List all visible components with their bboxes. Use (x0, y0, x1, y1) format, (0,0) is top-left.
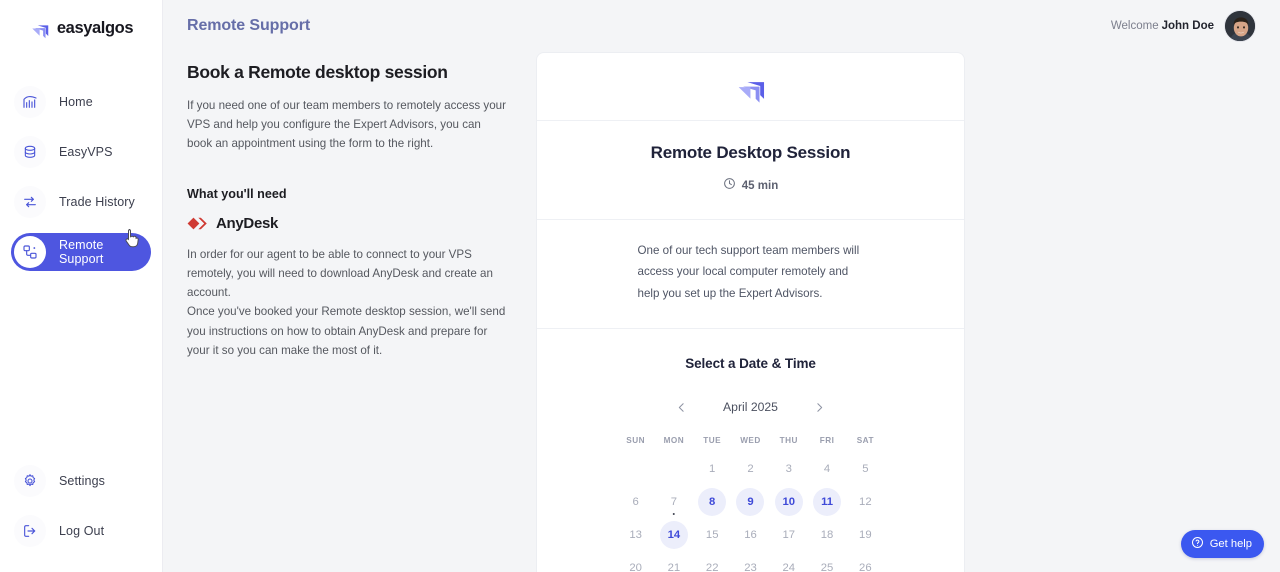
calendar-cell: 6 (617, 485, 655, 518)
today-indicator-dot (673, 513, 676, 516)
calendar-day-available[interactable]: 11 (813, 488, 841, 516)
calendar-cell: 24 (770, 551, 808, 572)
sidebar-nav: Home EasyVPS (0, 83, 162, 271)
chevron-left-icon[interactable] (667, 396, 697, 418)
card-logo-row (537, 53, 964, 121)
calendar-day-disabled: 19 (851, 521, 879, 549)
sidebar-item-trade-history[interactable]: Trade History (11, 183, 151, 221)
datetime-picker: Select a Date & Time April 2025 (537, 329, 964, 572)
calendar-day-disabled: 25 (813, 554, 841, 572)
sidebar-item-label: Home (59, 95, 93, 109)
user-name: John Doe (1162, 20, 1214, 32)
calendar-cell[interactable]: 10 (770, 485, 808, 518)
sidebar-item-label: Log Out (59, 524, 104, 538)
brand-logo[interactable]: easyalgos (0, 0, 162, 39)
card-header: Remote Desktop Session 45 min (537, 121, 964, 220)
calendar-day-header: SAT (846, 418, 884, 452)
sidebar-bottom-nav: Settings Log Out (0, 462, 162, 572)
calendar-cell: 22 (693, 551, 731, 572)
calendar-nav: April 2025 (617, 396, 885, 418)
anydesk-logo-icon (187, 217, 211, 230)
calendar-day-disabled: 22 (698, 554, 726, 572)
calendar-day-header: FRI (808, 418, 846, 452)
calendar-cell: 21 (655, 551, 693, 572)
calendar-day-disabled: 2 (736, 455, 764, 483)
calendar-cell: 19 (846, 518, 884, 551)
calendar: April 2025 SUNMONTUEWEDTHUFRISAT12345678… (617, 396, 885, 572)
intro-text: If you need one of our team members to r… (187, 96, 509, 154)
requirements-heading: What you'll need (187, 187, 509, 201)
calendar-month-label: April 2025 (697, 400, 805, 414)
calendar-day-disabled: 4 (813, 455, 841, 483)
calendar-cell: 15 (693, 518, 731, 551)
anydesk-logo: AnyDesk (187, 215, 509, 232)
calendar-day-header: TUE (693, 418, 731, 452)
sidebar-item-easyvps[interactable]: EasyVPS (11, 133, 151, 171)
calendar-cell[interactable]: 9 (731, 485, 769, 518)
clock-icon (723, 177, 736, 195)
welcome-text: WelcomeJohn Doe (1111, 20, 1214, 32)
calendar-day-disabled: 17 (775, 521, 803, 549)
calendar-cell: 17 (770, 518, 808, 551)
page-title: Remote Support (187, 17, 310, 35)
question-circle-icon (1191, 536, 1204, 552)
calendar-cell: 16 (731, 518, 769, 551)
session-duration: 45 min (537, 177, 964, 195)
user-area[interactable]: WelcomeJohn Doe (1111, 10, 1256, 42)
calendar-cell: 3 (770, 452, 808, 485)
calendar-day-disabled: 23 (736, 554, 764, 572)
calendar-grid: SUNMONTUEWEDTHUFRISAT1234567891011121314… (617, 418, 885, 572)
calendar-day-disabled: 13 (622, 521, 650, 549)
content: Book a Remote desktop session If you nee… (163, 52, 1280, 572)
easyalgos-arrow-logo-icon (29, 17, 51, 39)
calendar-day-available[interactable]: 8 (698, 488, 726, 516)
info-column: Book a Remote desktop session If you nee… (187, 52, 509, 572)
calendar-cell: 7 (655, 485, 693, 518)
calendar-day-header: SUN (617, 418, 655, 452)
calendar-day-disabled: 12 (851, 488, 879, 516)
session-description: One of our tech support team members wil… (638, 240, 864, 304)
requirements-text-1: In order for our agent to be able to con… (187, 245, 509, 303)
calendar-empty-cell (655, 452, 693, 485)
section-heading: Book a Remote desktop session (187, 62, 509, 83)
app-root: easyalgos Home (0, 0, 1280, 572)
sidebar: easyalgos Home (0, 0, 163, 572)
sidebar-item-label: Settings (59, 474, 105, 488)
sidebar-item-label: Trade History (59, 195, 135, 209)
get-help-label: Get help (1210, 538, 1252, 550)
gear-icon (14, 465, 46, 497)
calendar-cell: 18 (808, 518, 846, 551)
calendar-day-disabled: 16 (736, 521, 764, 549)
calendar-cell[interactable]: 8 (693, 485, 731, 518)
calendar-cell[interactable]: 14 (655, 518, 693, 551)
calendar-cell: 5 (846, 452, 884, 485)
anydesk-name: AnyDesk (216, 215, 278, 232)
sidebar-item-label: Remote Support (59, 238, 151, 266)
booking-card-wrapper: Remote Desktop Session 45 min One of our… (536, 52, 965, 572)
calendar-day-disabled: 5 (851, 455, 879, 483)
logout-icon (14, 515, 46, 547)
calendar-day-available[interactable]: 14 (660, 521, 688, 549)
calendar-day-available[interactable]: 9 (736, 488, 764, 516)
server-stack-icon (14, 136, 46, 168)
calendar-cell: 1 (693, 452, 731, 485)
avatar[interactable] (1224, 10, 1256, 42)
chart-bars-icon (14, 86, 46, 118)
calendar-cell: 2 (731, 452, 769, 485)
calendar-cell: 12 (846, 485, 884, 518)
main-area: Remote Support WelcomeJohn Doe (163, 0, 1280, 572)
calendar-cell: 13 (617, 518, 655, 551)
calendar-cell: 26 (846, 551, 884, 572)
calendar-day-disabled: 20 (622, 554, 650, 572)
get-help-button[interactable]: Get help (1181, 530, 1264, 558)
calendar-day-disabled: 3 (775, 455, 803, 483)
calendar-day-header: THU (770, 418, 808, 452)
calendar-day-available[interactable]: 10 (775, 488, 803, 516)
exchange-arrows-icon (14, 186, 46, 218)
sidebar-item-settings[interactable]: Settings (11, 462, 151, 500)
calendar-day-disabled: 21 (660, 554, 688, 572)
calendar-day-disabled: 6 (622, 488, 650, 516)
welcome-label: Welcome (1111, 20, 1159, 32)
calendar-day-disabled: 24 (775, 554, 803, 572)
calendar-cell: 4 (808, 452, 846, 485)
calendar-day-disabled: 18 (813, 521, 841, 549)
calendar-day-disabled: 7 (660, 488, 688, 516)
calendar-cell: 23 (731, 551, 769, 572)
calendar-cell: 20 (617, 551, 655, 572)
sidebar-item-label: EasyVPS (59, 145, 113, 159)
session-title: Remote Desktop Session (537, 143, 964, 163)
calendar-day-disabled: 15 (698, 521, 726, 549)
calendar-day-header: MON (655, 418, 693, 452)
brand-name: easyalgos (57, 19, 133, 38)
calendar-empty-cell (617, 452, 655, 485)
sidebar-item-remote-support[interactable]: Remote Support (11, 233, 151, 271)
card-description: One of our tech support team members wil… (537, 220, 964, 329)
calendar-day-disabled: 1 (698, 455, 726, 483)
picker-title: Select a Date & Time (537, 356, 964, 371)
requirements-text-2: Once you've booked your Remote desktop s… (187, 302, 509, 360)
easyalgos-arrow-logo-icon (734, 70, 768, 104)
remote-support-icon (14, 236, 46, 268)
calendar-day-header: WED (731, 418, 769, 452)
sidebar-item-home[interactable]: Home (11, 83, 151, 121)
calendar-cell[interactable]: 11 (808, 485, 846, 518)
calendar-cell: 25 (808, 551, 846, 572)
topbar: Remote Support WelcomeJohn Doe (163, 0, 1280, 52)
calendar-day-disabled: 26 (851, 554, 879, 572)
chevron-right-icon[interactable] (805, 396, 835, 418)
duration-text: 45 min (742, 180, 778, 192)
sidebar-item-logout[interactable]: Log Out (11, 512, 151, 550)
booking-card: Remote Desktop Session 45 min One of our… (536, 52, 965, 572)
